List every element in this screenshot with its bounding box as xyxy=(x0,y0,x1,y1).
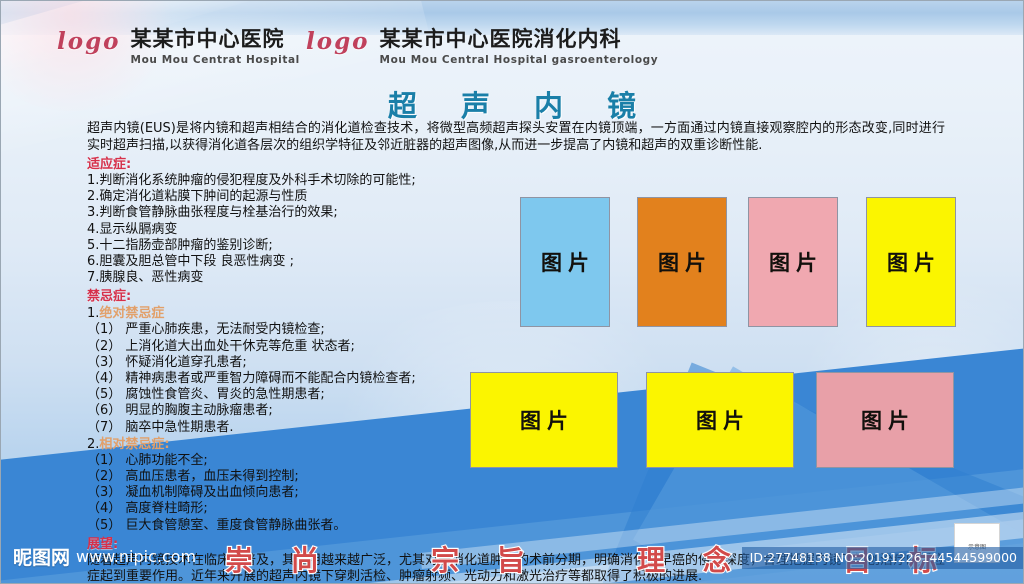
slogan-item: 理 念 xyxy=(623,539,745,579)
watermark-id-bar: ID:27748138 NO:20191226144544599000 xyxy=(742,547,1023,569)
site-url: www.nipic.com xyxy=(76,547,196,566)
hospital-name-cn: 某某市中心医院 xyxy=(131,27,300,52)
hospital-name-primary: 某某市中心医院 Mou Mou Centrat Hospital xyxy=(131,27,300,67)
image-placeholder-label: 图片 xyxy=(514,405,574,435)
image-placeholder: 图片 xyxy=(866,197,956,327)
page-title: 超 声 内 镜 xyxy=(1,83,1023,125)
hospital-logo-primary: logo 某某市中心医院 Mou Mou Centrat Hospital xyxy=(57,27,300,67)
image-placeholder-label: 图片 xyxy=(690,405,750,435)
logo-mark-icon: logo xyxy=(306,27,380,57)
poster-canvas: logo 某某市中心医院 Mou Mou Centrat Hospital lo… xyxy=(0,0,1024,584)
image-placeholder: 图片 xyxy=(637,197,727,327)
relative-contraindications-number: 2. xyxy=(87,437,99,452)
slogan-item: 崇 尚 xyxy=(211,539,333,579)
hospital-logo-department: logo 某某市中心医院消化内科 Mou Mou Central Hospita… xyxy=(306,27,658,67)
image-placeholder: 图片 xyxy=(470,372,618,468)
department-name-en: Mou Mou Central Hospital gasroenterology xyxy=(380,53,659,67)
image-placeholder-label: 图片 xyxy=(763,247,823,277)
indications-heading: 适应症: xyxy=(87,156,947,173)
absolute-contraindications-number: 1. xyxy=(87,306,99,321)
list-item: （4） 高度脊柱畸形; xyxy=(87,501,947,517)
list-item: （2） 上消化道大出血处干休克等危重 状态者; xyxy=(87,339,947,355)
site-logo: 昵图网 xyxy=(13,543,70,570)
department-name-cn: 某某市中心医院消化内科 xyxy=(380,27,659,52)
list-item: （3） 凝血机制障碍及出血倾向患者; xyxy=(87,485,947,501)
absolute-contraindications-label: 绝对禁忌症 xyxy=(99,306,164,321)
image-placeholder: 图片 xyxy=(646,372,794,468)
image-placeholder-label: 图片 xyxy=(652,247,712,277)
watermark-brand: 昵图网 www.nipic.com xyxy=(13,543,196,570)
list-item: （5） 巨大食管憩室、重度食管静脉曲张者。 xyxy=(87,518,947,534)
image-placeholder-label: 图片 xyxy=(535,247,595,277)
image-placeholder-label: 图片 xyxy=(855,405,915,435)
image-placeholder: 图片 xyxy=(748,197,838,327)
relative-contraindications-label: 相对禁忌症: xyxy=(99,437,169,452)
intro-paragraph: 超声内镜(EUS)是将内镜和超声相结合的消化道检查技术，将微型高频超声探头安置在… xyxy=(87,121,945,154)
image-placeholder: 图片 xyxy=(816,372,954,468)
hospital-name-en: Mou Mou Centrat Hospital xyxy=(131,53,300,67)
department-name-block: 某某市中心医院消化内科 Mou Mou Central Hospital gas… xyxy=(380,27,659,67)
list-item: （3） 怀疑消化道穿孔患者; xyxy=(87,355,947,371)
content-column: 超声内镜(EUS)是将内镜和超声相结合的消化道检查技术，将微型高频超声探头安置在… xyxy=(87,121,947,584)
list-item: （2） 高血压患者，血压未得到控制; xyxy=(87,469,947,485)
slogan-item: 宗 旨 xyxy=(417,539,539,579)
header-logos: logo 某某市中心医院 Mou Mou Centrat Hospital lo… xyxy=(1,27,1023,83)
image-placeholder: 图片 xyxy=(520,197,610,327)
logo-mark-icon: logo xyxy=(57,27,131,57)
list-item: 1.判断消化系统肿瘤的侵犯程度及外科手术切除的可能性; xyxy=(87,173,947,189)
image-placeholder-label: 图片 xyxy=(881,247,941,277)
